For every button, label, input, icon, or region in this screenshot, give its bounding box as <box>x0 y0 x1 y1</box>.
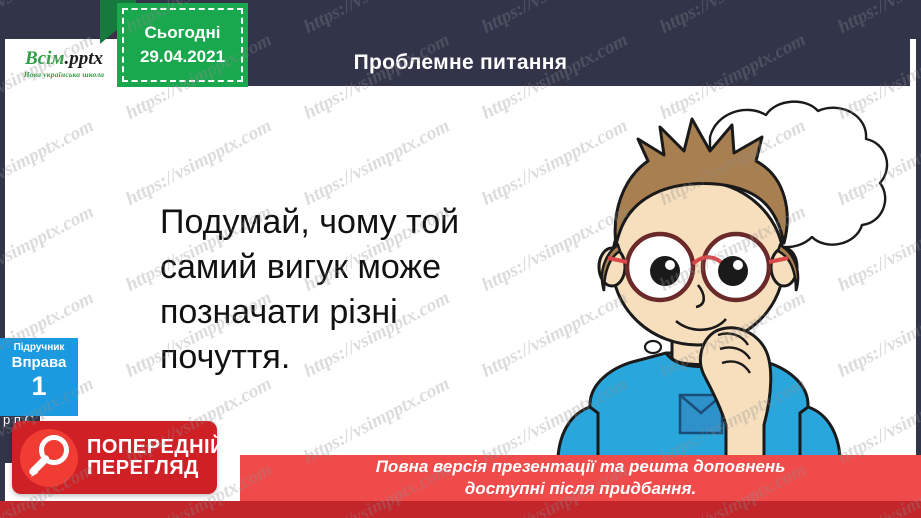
watermark-text: https://vsimpptx.com <box>834 0 921 39</box>
exercise-number: 1 <box>0 372 78 400</box>
watermark-text: https://vsimpptx.com <box>478 0 631 39</box>
exercise-label: Вправа <box>0 354 78 373</box>
presentation-slide: Проблемне питання Всім.pptx Нова українс… <box>0 0 921 518</box>
thinking-boy-illustration <box>520 95 900 470</box>
preview-badge-line2: ПЕРЕГЛЯД <box>87 458 225 478</box>
preview-badge-line1: ПОПЕРЕДНІЙ <box>87 437 225 457</box>
purchase-notice-line1: Повна версія презентації та решта доповн… <box>376 456 786 478</box>
exercise-tag[interactable]: Підручник Вправа 1 <box>0 338 78 416</box>
watermark-text: https://vsimpptx.com <box>656 0 809 39</box>
exercise-source-label: Підручник <box>0 342 78 354</box>
logo-name-part2: pptx <box>69 48 103 69</box>
logo-wordmark: Всім.pptx <box>25 49 103 68</box>
date-badge: Сьогодні 29.04.2021 <box>117 3 248 87</box>
date-label: Сьогодні <box>145 23 221 43</box>
magnifier-icon-background <box>20 429 78 487</box>
magnifier-icon <box>20 429 78 487</box>
watermark-text: https://vsimpptx.com <box>0 0 98 39</box>
bottom-accent-strip <box>0 501 921 518</box>
logo-name-part1: Всім <box>25 48 64 69</box>
logo-subtitle: Нова українська школа <box>24 70 105 79</box>
slide-body-text: Подумай, чому той самий вигук може позна… <box>160 200 520 380</box>
preview-badge[interactable]: ПОПЕРЕДНІЙ ПЕРЕГЛЯД <box>12 421 217 494</box>
page-title: Проблемне питання <box>354 51 568 75</box>
watermark-text: https://vsimpptx.com <box>300 0 453 39</box>
preview-badge-text: ПОПЕРЕДНІЙ ПЕРЕГЛЯД <box>87 437 225 478</box>
purchase-notice-banner: Повна версія презентації та решта доповн… <box>240 455 921 501</box>
date-value: 29.04.2021 <box>140 47 225 67</box>
site-logo[interactable]: Всім.pptx Нова українська школа <box>5 39 123 86</box>
purchase-notice-line2: доступні після придбання. <box>465 478 696 500</box>
